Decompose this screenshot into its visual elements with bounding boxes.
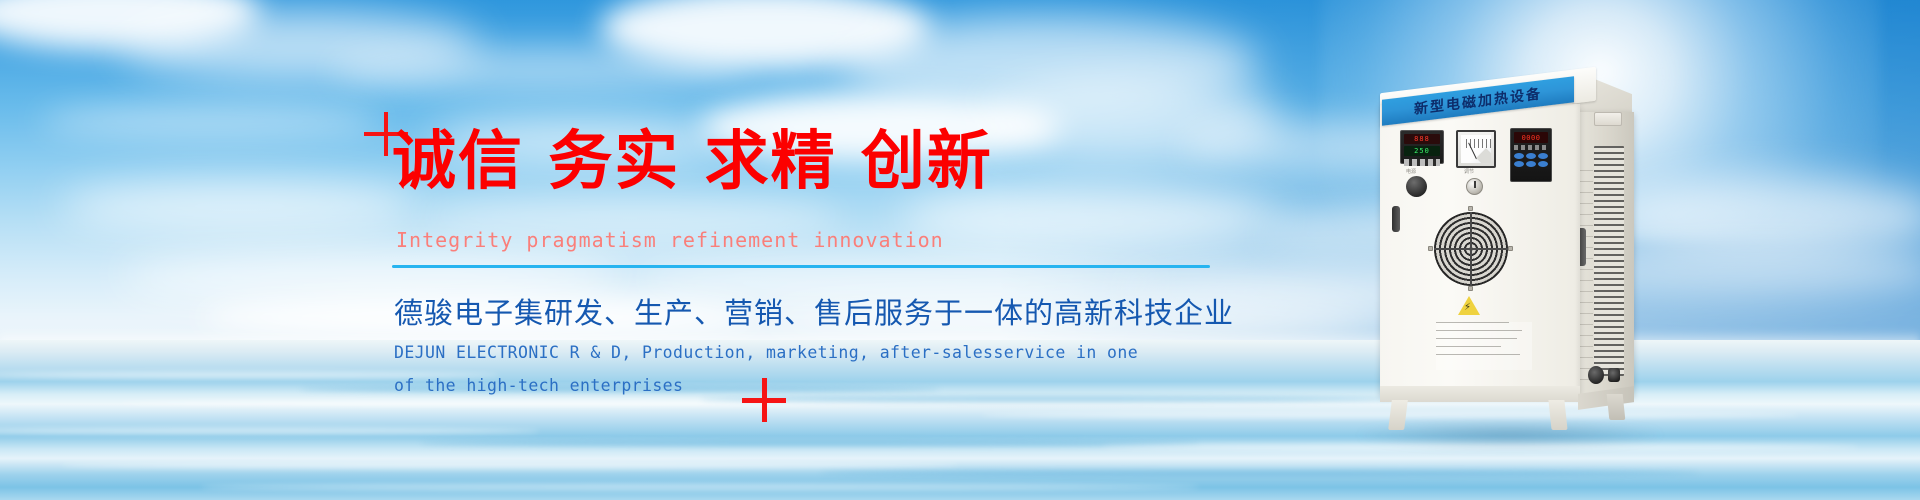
cabinet-foot (1548, 400, 1567, 430)
label-line (1436, 330, 1522, 331)
product-image-electromagnetic-heating-cabinet: 新型电磁加热设备 888 250 0000 (1372, 60, 1652, 430)
fan-screw (1428, 246, 1433, 251)
keypad-display: 0000 (1514, 132, 1548, 143)
power-switch-knob[interactable] (1406, 176, 1427, 197)
fan-screw (1508, 246, 1513, 251)
label-line (1436, 354, 1520, 355)
page-subtitle-english: Integrity pragmatism refinement innovati… (396, 228, 944, 252)
specification-label (1436, 322, 1532, 370)
page-title: 诚信 务实 求精 创新 (392, 130, 993, 194)
analog-ammeter-gauge (1456, 130, 1496, 168)
keypad-key[interactable] (1538, 161, 1548, 167)
label-line (1436, 346, 1501, 347)
knob-right-label: 调节 (1464, 168, 1474, 175)
cabinet-foot (1607, 394, 1626, 420)
gauge-face (1461, 135, 1491, 163)
temperature-readout-secondary: 250 (1404, 146, 1440, 156)
knob-left-label: 电源 (1406, 168, 1416, 175)
keypad-key[interactable] (1538, 153, 1548, 159)
temperature-readout-primary: 888 (1404, 134, 1440, 144)
company-hero-banner: 诚信 务实 求精 创新 Integrity pragmatism refinem… (0, 0, 1920, 500)
tagline-chinese: 德骏电子集研发、生产、营销、售后服务于一体的高新科技企业 (394, 290, 1234, 332)
cabinet-side-label (1594, 112, 1622, 126)
keypad-key[interactable] (1526, 161, 1536, 167)
keypad-key[interactable] (1526, 153, 1536, 159)
cable-port (1608, 368, 1620, 382)
gauge-corner (1476, 148, 1491, 163)
ventilation-fan-grille (1434, 212, 1508, 286)
keypad-keys[interactable] (1514, 153, 1548, 167)
cabinet-side-vents (1594, 146, 1624, 376)
cabinet-side-ribs (1580, 170, 1593, 380)
divider (392, 265, 1210, 268)
temperature-controller-display[interactable]: 888 250 (1400, 130, 1444, 164)
controller-buttons[interactable] (1404, 159, 1440, 166)
cable-port (1588, 366, 1604, 384)
cabinet-front-handle[interactable] (1392, 206, 1400, 232)
label-line (1436, 322, 1509, 323)
fan-screw (1468, 206, 1473, 211)
adjustment-knob[interactable] (1466, 178, 1483, 195)
control-keypad-panel[interactable]: 0000 (1510, 128, 1552, 182)
label-line (1436, 338, 1517, 339)
keypad-key[interactable] (1514, 161, 1524, 167)
tagline-english-line-1: DEJUN ELECTRONIC R & D, Production, mark… (394, 336, 1138, 369)
fan-screw (1468, 286, 1473, 291)
keypad-indicator-labels (1514, 145, 1548, 150)
keypad-key[interactable] (1514, 153, 1524, 159)
warning-bolt-icon: ⚡ (1464, 302, 1471, 313)
cabinet-foot (1388, 400, 1408, 430)
plus-decoration-icon (742, 378, 786, 422)
